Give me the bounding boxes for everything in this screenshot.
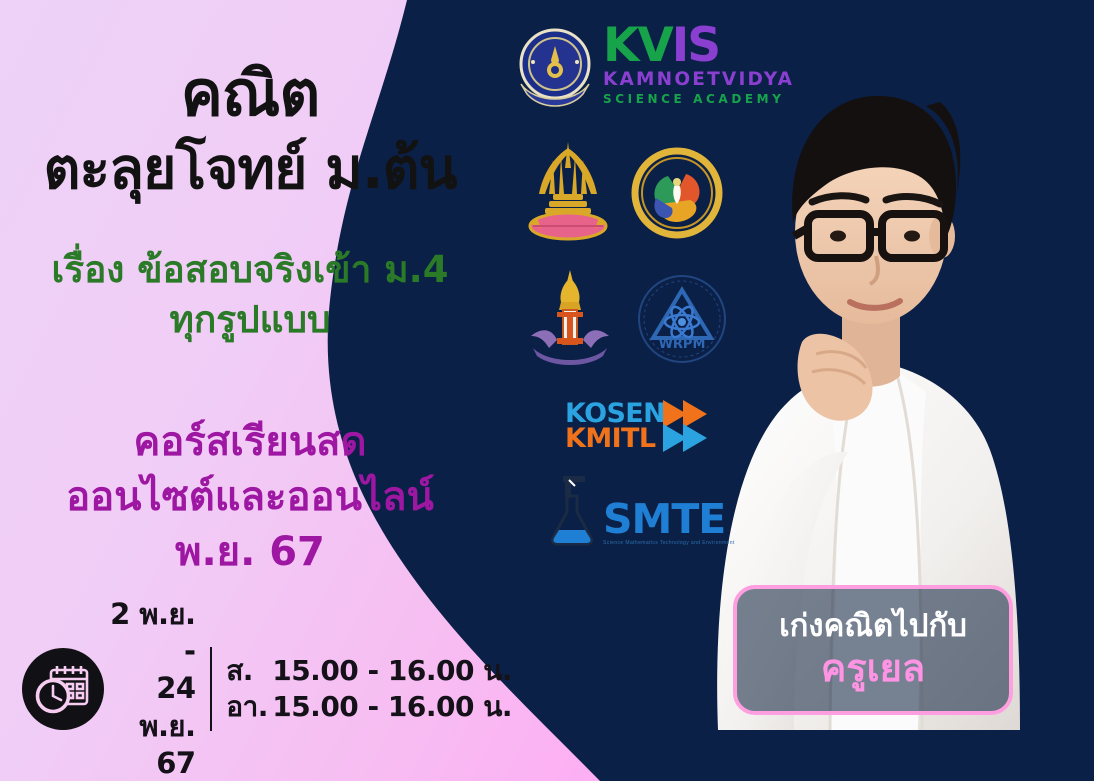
course-line-2: ออนไซต์และออนไลน์ <box>0 470 500 525</box>
thammasat-seal-icon <box>527 268 613 373</box>
smte-tagline: Science Mathematics Technology and Envir… <box>603 540 735 546</box>
mahidol-wittayanusorn-seal-icon <box>630 146 724 245</box>
kvis-word-green: KV <box>603 18 672 73</box>
kosen-line-2: KMITL <box>565 426 665 451</box>
date-line-2: 24 พ.ย. 67 <box>104 670 196 781</box>
course-line-3: พ.ย. 67 <box>0 525 500 580</box>
time-row-day: ส. <box>226 653 272 689</box>
kvis-seal-icon <box>509 22 601 119</box>
schedule-strip: 2 พ.ย. - 24 พ.ย. 67 ส.15.00 - 16.00 น. อ… <box>22 634 512 744</box>
calendar-clock-icon <box>22 648 104 730</box>
time-row: อา.15.00 - 16.00 น. <box>226 689 512 725</box>
badge-line-1: เก่งคณิตไปกับ <box>779 609 967 643</box>
svg-text:WRPM: WRPM <box>659 337 706 352</box>
poster-canvas: KVIS KAMNOETVIDYA SCIENCE ACADEMY <box>0 0 1094 781</box>
subtitle-line-2: ทุกรูปแบบ <box>0 295 500 345</box>
smte-wordmark: SMTE <box>603 499 735 540</box>
wrpm-science-seal-icon: WRPM <box>635 272 729 371</box>
kvis-subtitle-2: SCIENCE ACADEMY <box>603 93 794 105</box>
schedule-divider <box>210 647 213 731</box>
date-line-1: 2 พ.ย. - <box>104 596 196 670</box>
course-line-1: คอร์สเรียนสด <box>0 415 500 470</box>
kvis-subtitle-1: KAMNOETVIDYA <box>603 71 794 90</box>
kvis-logo: KVIS KAMNOETVIDYA SCIENCE ACADEMY <box>603 22 794 105</box>
headline-line-2: ตะลุยโจทย์ ม.ต้น <box>0 136 500 203</box>
instructor-badge: เก่งคณิตไปกับ ครูเยล <box>733 585 1013 715</box>
partner-logos: KVIS KAMNOETVIDYA SCIENCE ACADEMY <box>495 0 795 570</box>
kvis-word-purple: IS <box>672 18 719 73</box>
kosen-chevron-icon <box>661 398 719 454</box>
badge-line-2: ครูเยล <box>821 647 925 691</box>
headline-line-1: คณิต <box>0 62 500 126</box>
time-row-time: 15.00 - 16.00 น. <box>272 654 512 687</box>
time-row: ส.15.00 - 16.00 น. <box>226 653 512 689</box>
smte-logo: SMTE Science Mathematics Technology and … <box>545 472 735 546</box>
time-row-time: 15.00 - 16.00 น. <box>272 690 512 723</box>
subtitle-line-1: เรื่อง ข้อสอบจริงเข้า ม.4 <box>0 245 500 295</box>
kosen-kmitl-logo: KOSEN KMITL <box>565 398 719 454</box>
date-range: 2 พ.ย. - 24 พ.ย. 67 <box>104 596 208 781</box>
subtitle-block: เรื่อง ข้อสอบจริงเข้า ม.4 ทุกรูปแบบ <box>0 245 500 344</box>
time-row-day: อา. <box>226 689 272 725</box>
chulalongkorn-seal-icon <box>523 138 613 255</box>
smte-flask-icon <box>545 472 599 546</box>
time-rows: ส.15.00 - 16.00 น. อา.15.00 - 16.00 น. <box>226 653 512 725</box>
course-block: คอร์สเรียนสด ออนไซต์และออนไลน์ พ.ย. 67 <box>0 415 500 581</box>
headline-block: คณิต ตะลุยโจทย์ ม.ต้น <box>0 62 500 204</box>
